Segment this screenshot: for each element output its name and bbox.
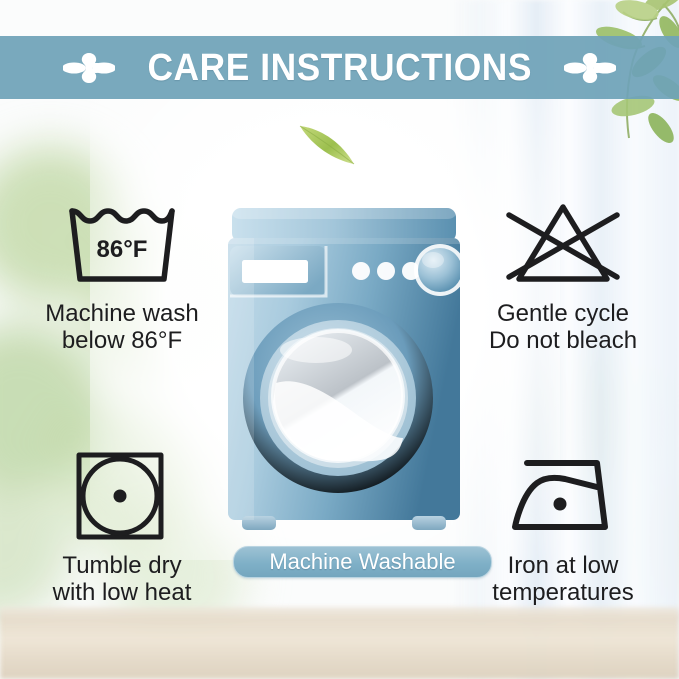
leaf-icon bbox=[298, 120, 362, 168]
care-item-caption: Machine wash below 86°F bbox=[45, 300, 198, 354]
status-badge-label: Machine Washable bbox=[269, 551, 455, 573]
front-load-washing-machine-illustration bbox=[228, 208, 460, 538]
care-item-iron-low: Iron at low temperatures bbox=[458, 448, 668, 606]
wash-tub-icon: 86°F bbox=[62, 196, 182, 292]
wash-temperature-value: 86°F bbox=[97, 236, 148, 263]
care-instructions-infographic: CARE INSTRUCTIONS bbox=[0, 0, 679, 679]
header-banner: CARE INSTRUCTIONS bbox=[0, 36, 679, 99]
triangle-crossed-out-icon bbox=[503, 196, 623, 292]
fleur-de-lis-ornament-right bbox=[564, 47, 616, 89]
page-title: CARE INSTRUCTIONS bbox=[147, 49, 531, 87]
care-item-tumble-dry: Tumble dry with low heat bbox=[22, 448, 222, 606]
care-item-caption: Gentle cycle Do not bleach bbox=[489, 300, 637, 354]
care-item-gentle-cycle-no-bleach: Gentle cycle Do not bleach bbox=[458, 196, 668, 354]
care-item-caption: Tumble dry with low heat bbox=[53, 552, 192, 606]
wooden-table-surface bbox=[0, 607, 679, 679]
status-badge: Machine Washable bbox=[233, 546, 492, 578]
fleur-de-lis-ornament-left bbox=[63, 47, 115, 89]
care-item-caption: Iron at low temperatures bbox=[492, 552, 633, 606]
iron-low-heat-icon bbox=[503, 448, 623, 544]
care-item-machine-wash: 86°F Machine wash below 86°F bbox=[22, 196, 222, 354]
tumble-dry-low-icon bbox=[62, 448, 182, 544]
